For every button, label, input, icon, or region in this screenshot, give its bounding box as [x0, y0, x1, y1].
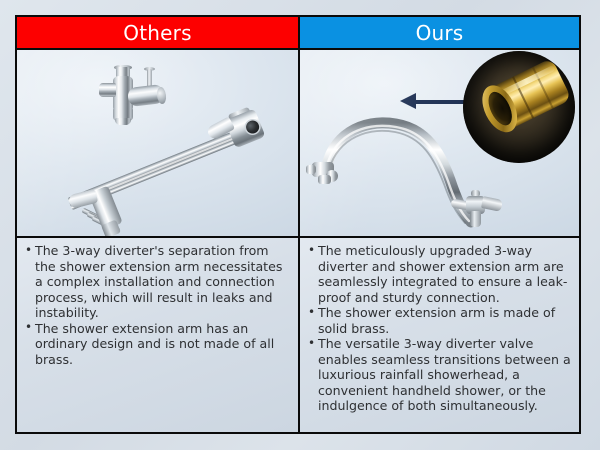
comparison-header-row: Others Ours: [17, 17, 579, 50]
comparison-text-row: The 3-way diverter's separation from the…: [17, 238, 579, 432]
integrated-diverter-stem: [470, 211, 481, 227]
product-image-row: [17, 50, 579, 238]
list-item: The meticulously upgraded 3-way diverter…: [307, 243, 572, 305]
arm-top-fitting: [306, 162, 338, 184]
list-item: The shower extension arm has an ordinary…: [24, 321, 291, 368]
extension-arm-outlet-fitting: [65, 186, 143, 236]
list-item: The 3-way diverter's separation from the…: [24, 243, 291, 321]
callout-arrow: [400, 92, 472, 112]
straight-extension-arm-graphic: [65, 98, 270, 233]
diverter-side-port: [99, 83, 116, 97]
others-bullet-list: The 3-way diverter's separation from the…: [24, 243, 291, 367]
header-cell-others: Others: [17, 17, 298, 48]
callout-arrow-head-icon: [400, 93, 416, 109]
header-label-ours: Ours: [416, 23, 464, 43]
comparison-table: Others Ours: [15, 15, 581, 434]
product-image-others: [17, 50, 298, 236]
header-cell-ours: Ours: [298, 17, 579, 48]
brass-tube-graphic: [476, 58, 572, 136]
product-image-ours: [298, 50, 579, 236]
brass-closeup-inset: [463, 51, 575, 163]
ours-bullet-list: The meticulously upgraded 3-way diverter…: [307, 243, 572, 414]
header-label-others: Others: [123, 23, 191, 43]
integrated-diverter-graphic: [450, 188, 510, 232]
description-cell-ours: The meticulously upgraded 3-way diverter…: [298, 238, 579, 432]
list-item: The shower extension arm is made of soli…: [307, 305, 572, 336]
list-item: The versatile 3-way diverter valve enabl…: [307, 336, 572, 414]
description-cell-others: The 3-way diverter's separation from the…: [17, 238, 298, 432]
